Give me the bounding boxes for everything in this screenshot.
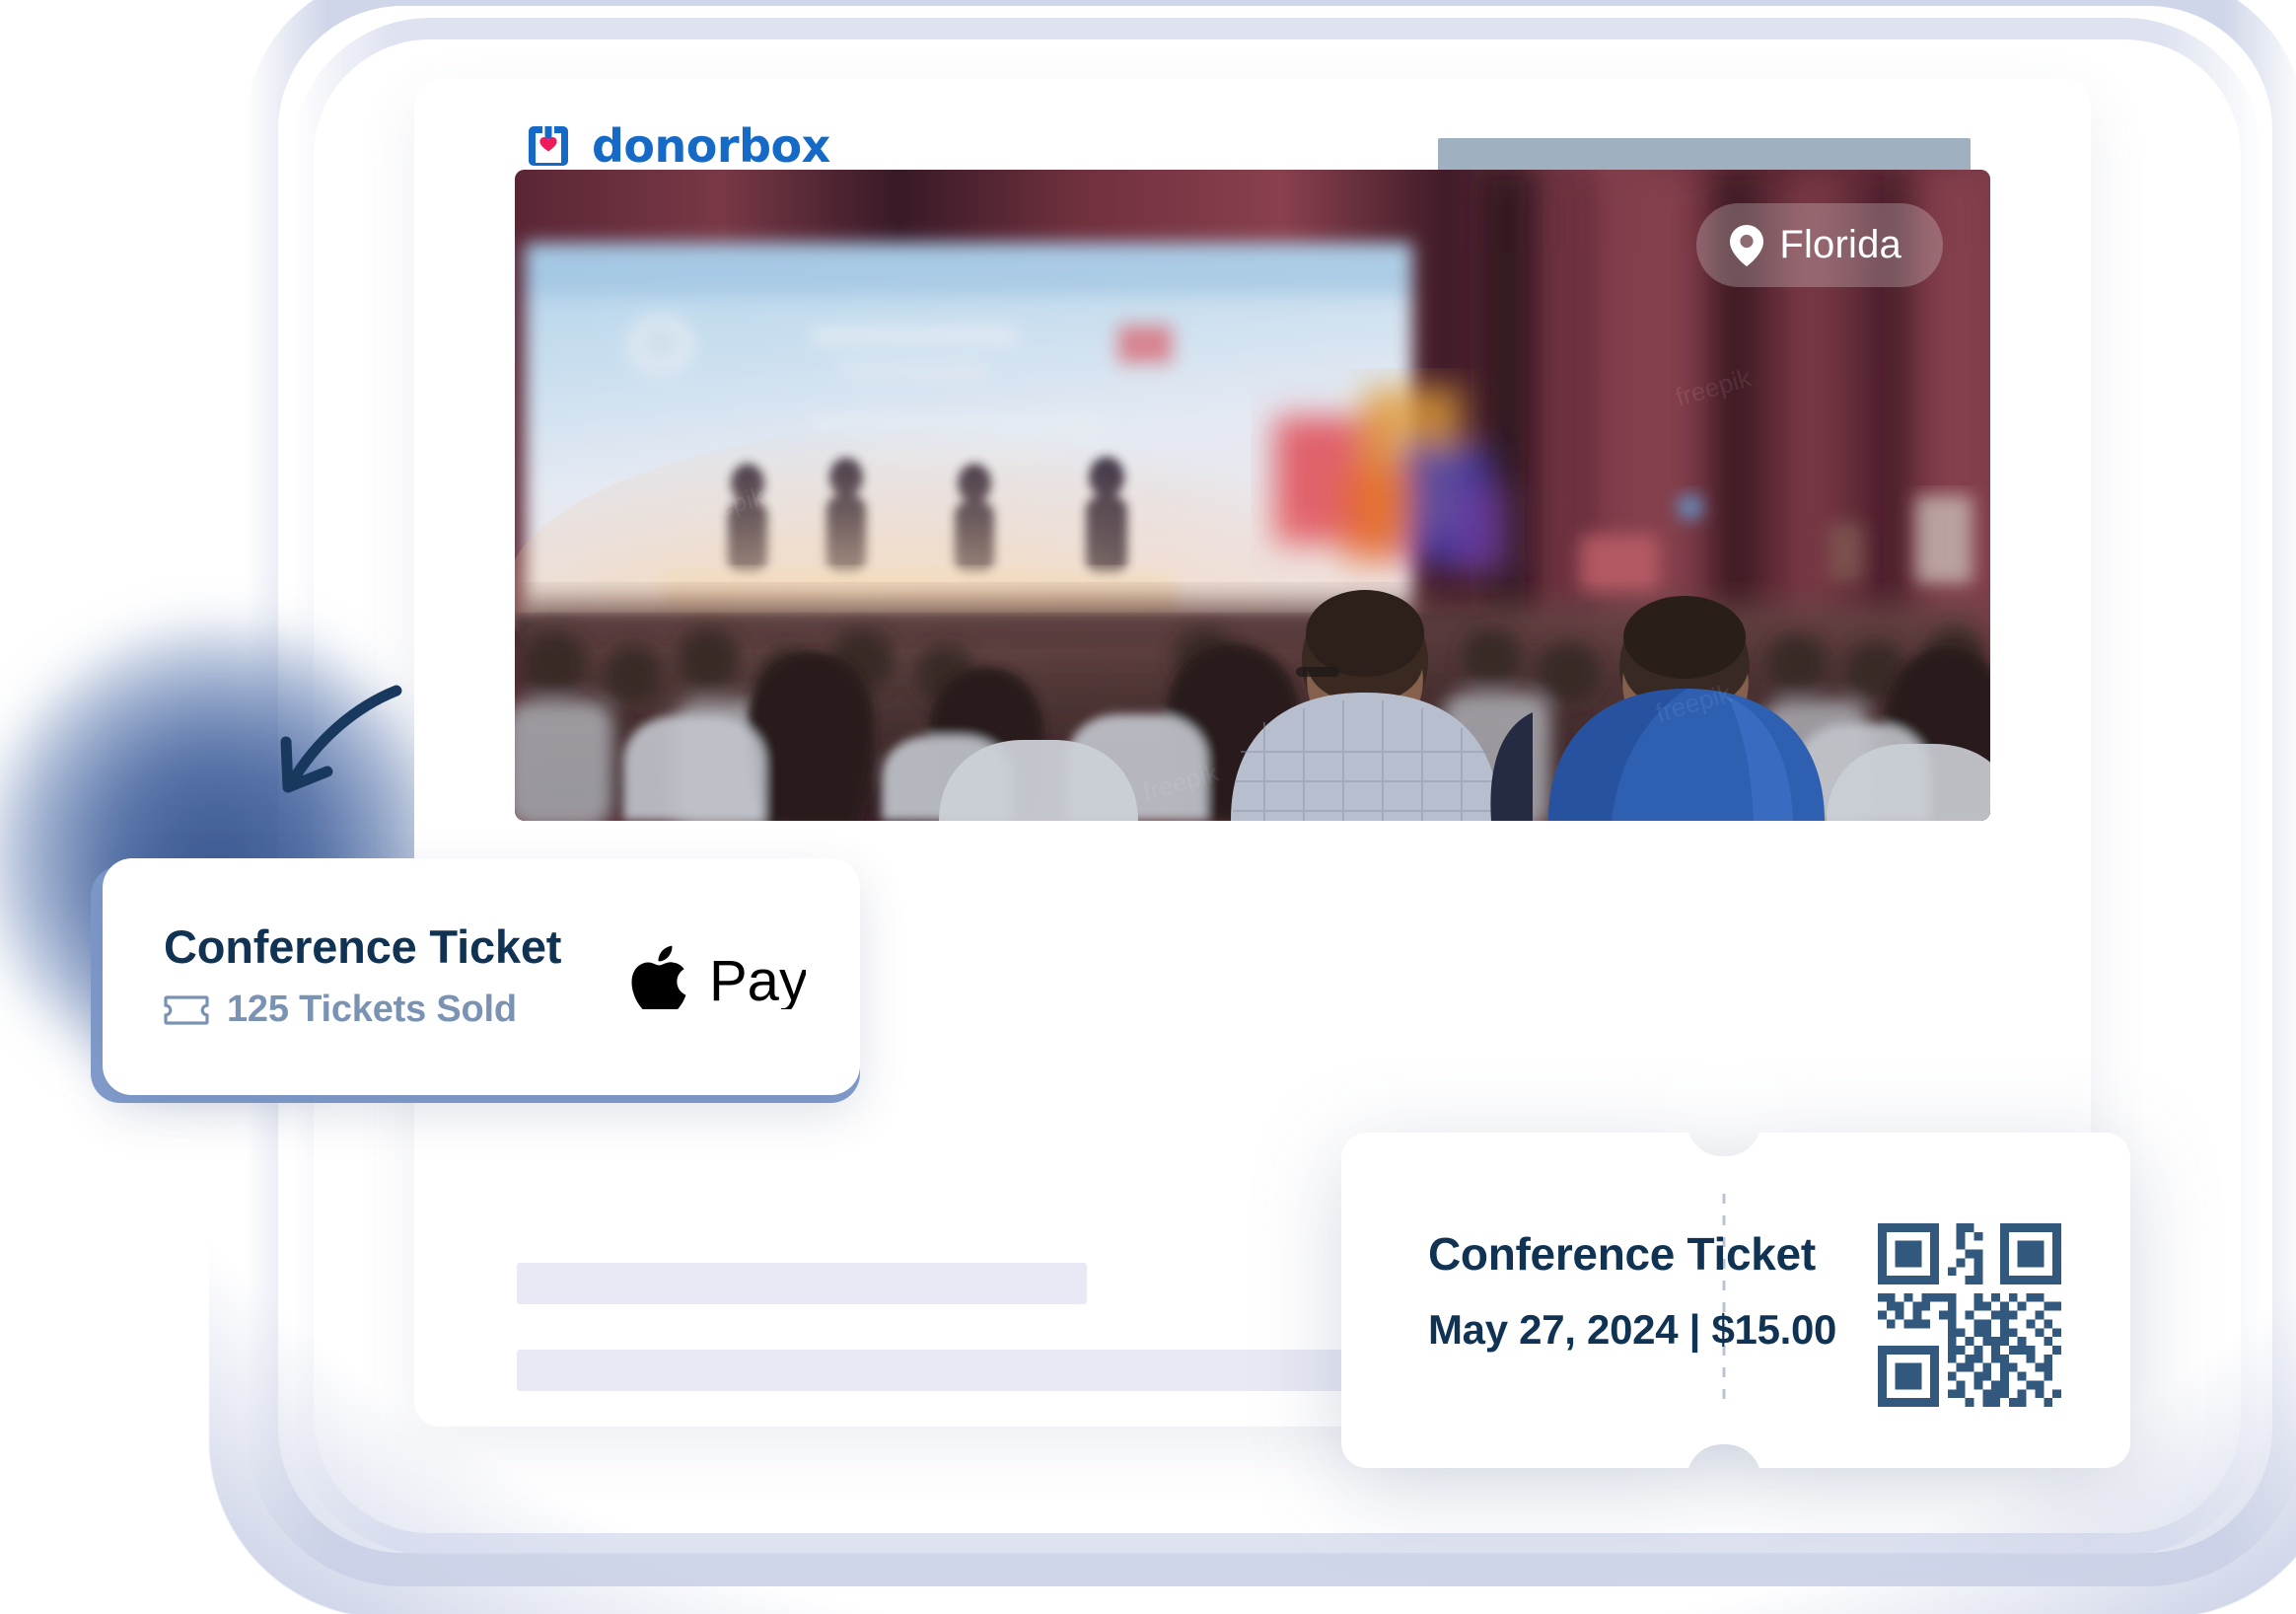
location-label: Florida [1779, 223, 1901, 267]
ticket-stat-text: Conference Ticket 125 Tickets Sold [103, 922, 561, 1031]
apple-pay-badge: Pay [628, 944, 806, 1009]
ticket-stat-sold-row: 125 Tickets Sold [164, 989, 561, 1031]
svg-text:Pay: Pay [709, 949, 806, 1009]
ticket-stat-card[interactable]: Conference Ticket 125 Tickets Sold Pay [103, 858, 860, 1095]
skeleton-bar-short [517, 1263, 1087, 1304]
ticket-stat-title: Conference Ticket [164, 922, 561, 971]
curved-down-left-arrow-icon [247, 681, 404, 819]
ticket-stub-icon [164, 995, 209, 1025]
hero-image: freepik freepik freepik freepik Florida [515, 170, 1990, 821]
brand-logo[interactable]: donorbox [521, 118, 830, 174]
donorbox-heart-box-logo-icon [521, 118, 576, 174]
brand-name: donorbox [592, 119, 830, 173]
ticket-stat-sold-label: 125 Tickets Sold [227, 989, 517, 1031]
qr-code-icon[interactable] [1878, 1223, 2061, 1407]
location-badge[interactable]: Florida [1696, 203, 1943, 287]
qr-ticket-meta: May 27, 2024 | $15.00 [1428, 1306, 1892, 1354]
qr-ticket-card[interactable]: Conference Ticket May 27, 2024 | $15.00 [1341, 1133, 2130, 1468]
apple-pay-logo-icon: Pay [628, 944, 806, 1009]
illustration-stage: donorbox [0, 0, 2296, 1614]
map-pin-icon [1730, 225, 1763, 266]
qr-ticket-title: Conference Ticket [1428, 1227, 1892, 1281]
qr-ticket-text: Conference Ticket May 27, 2024 | $15.00 [1428, 1227, 1892, 1354]
